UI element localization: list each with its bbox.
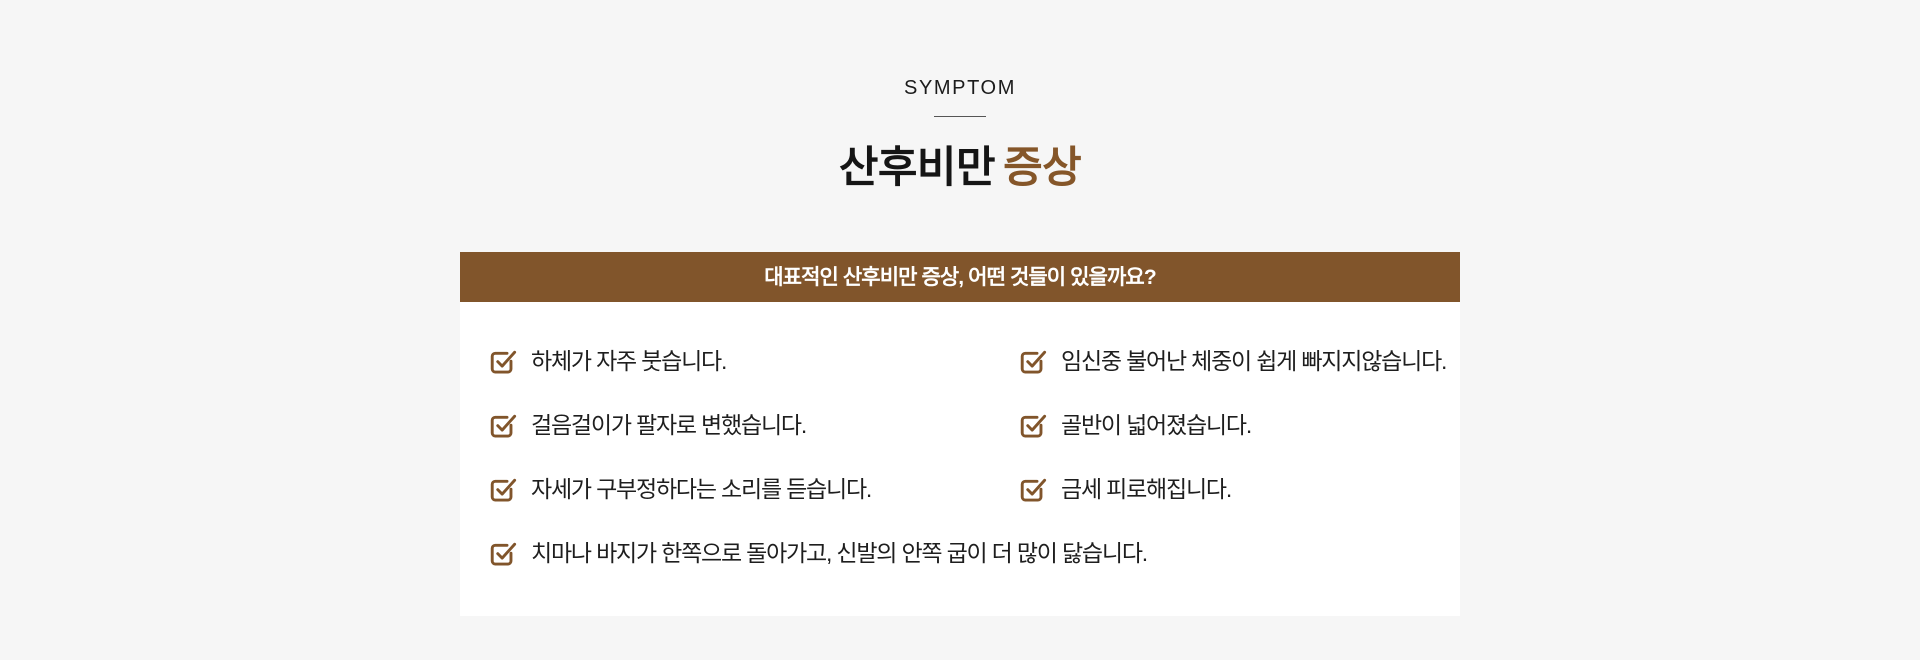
checkbox-checked-icon — [488, 539, 518, 569]
symptom-text: 임신중 불어난 체중이 쉽게 빠지지않습니다. — [1061, 348, 1446, 376]
section-eyebrow: SYMPTOM — [0, 78, 1920, 98]
symptom-card-body: 하체가 자주 붓습니다. 임신중 불어난 체중이 쉽게 빠지지않습니다. 걸음걸… — [460, 302, 1460, 616]
symptom-list-item: 골반이 넓어졌습니다. — [990, 394, 1460, 458]
symptom-section: SYMPTOM 산후비만증상 대표적인 산후비만 증상, 어떤 것들이 있을까요… — [0, 0, 1920, 660]
symptom-card-heading: 대표적인 산후비만 증상, 어떤 것들이 있을까요? — [764, 267, 1156, 288]
symptom-text: 걸음걸이가 팔자로 변했습니다. — [531, 412, 806, 440]
symptom-card: 대표적인 산후비만 증상, 어떤 것들이 있을까요? 하체가 자주 붓습니다. … — [460, 252, 1460, 616]
page-title-primary: 산후비만 — [839, 144, 995, 192]
symptom-text: 골반이 넓어졌습니다. — [1061, 412, 1251, 440]
symptom-list-item: 금세 피로해집니다. — [990, 458, 1460, 522]
page-title: 산후비만증상 — [0, 143, 1920, 195]
checkbox-checked-icon — [1018, 347, 1048, 377]
symptom-list-item: 임신중 불어난 체중이 쉽게 빠지지않습니다. — [990, 330, 1460, 394]
symptom-list-item: 걸음걸이가 팔자로 변했습니다. — [460, 394, 990, 458]
symptom-list-item: 하체가 자주 붓습니다. — [460, 330, 990, 394]
checkbox-checked-icon — [488, 347, 518, 377]
checkbox-checked-icon — [488, 411, 518, 441]
symptom-text: 자세가 구부정하다는 소리를 듣습니다. — [531, 476, 871, 504]
checkbox-checked-icon — [488, 475, 518, 505]
symptom-list-item: 치마나 바지가 한쪽으로 돌아가고, 신발의 안쪽 굽이 더 많이 닳습니다. — [460, 522, 1460, 586]
section-header: SYMPTOM 산후비만증상 — [0, 78, 1920, 195]
checkbox-checked-icon — [1018, 475, 1048, 505]
symptom-text: 치마나 바지가 한쪽으로 돌아가고, 신발의 안쪽 굽이 더 많이 닳습니다. — [531, 540, 1147, 568]
symptom-list-item: 자세가 구부정하다는 소리를 듣습니다. — [460, 458, 990, 522]
eyebrow-divider — [934, 116, 986, 117]
checkbox-checked-icon — [1018, 411, 1048, 441]
symptom-card-header: 대표적인 산후비만 증상, 어떤 것들이 있을까요? — [460, 252, 1460, 302]
symptom-list: 하체가 자주 붓습니다. 임신중 불어난 체중이 쉽게 빠지지않습니다. 걸음걸… — [460, 330, 1460, 586]
symptom-text: 금세 피로해집니다. — [1061, 476, 1231, 504]
page-title-accent: 증상 — [1003, 144, 1081, 192]
symptom-text: 하체가 자주 붓습니다. — [531, 348, 726, 376]
